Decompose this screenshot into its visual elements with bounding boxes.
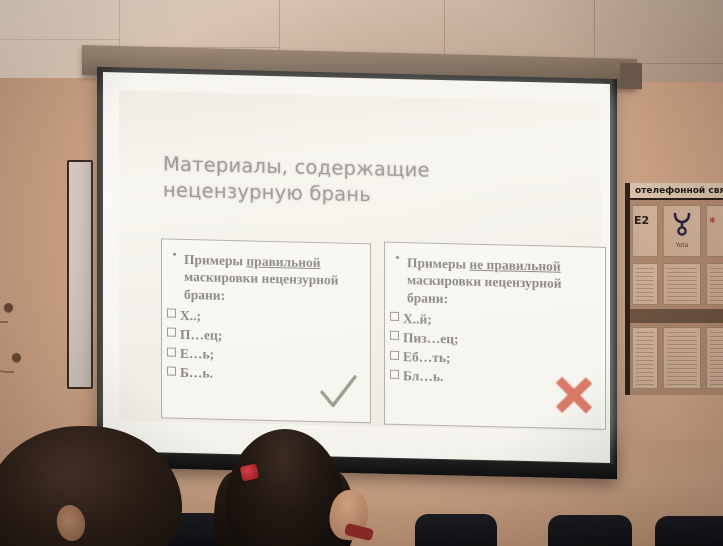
check-mark-icon — [318, 372, 358, 413]
chair — [655, 516, 723, 546]
checkbox-icon — [167, 366, 176, 375]
wall-hook-lower-tail — [0, 359, 14, 373]
list-item-label: Х..; — [180, 308, 201, 323]
checkbox-icon — [390, 331, 399, 340]
correct-examples-box: Примеры правильной маскировки нецензурно… — [161, 238, 371, 423]
incorrect-examples-box: Примеры не правильной маскировки нецензу… — [384, 242, 606, 430]
list-item-label: Е…ь; — [180, 346, 214, 362]
board-card — [706, 327, 723, 389]
bullet-dot-icon — [173, 253, 176, 256]
cross-mark-icon — [551, 372, 597, 419]
board-card-e2-label: Е2 — [633, 206, 657, 226]
heading-underlined: правильной — [246, 253, 320, 270]
checkbox-icon — [390, 312, 399, 321]
board-card-e2: Е2 — [632, 205, 658, 257]
correct-examples-heading: Примеры правильной маскировки нецензурно… — [162, 239, 370, 307]
slide-title: Материалы, содержащие нецензурную брань — [163, 151, 503, 212]
checkbox-icon — [390, 350, 399, 359]
list-item-label: П…ец; — [180, 327, 222, 343]
board-card-yota: Yota — [663, 205, 701, 257]
checkbox-icon — [167, 309, 176, 318]
projector-screen-housing-end — [620, 63, 642, 90]
classroom-photo: Материалы, содержащие нецензурную брань … — [0, 0, 723, 546]
projector-screen: Материалы, содержащие нецензурную брань … — [97, 67, 617, 479]
heading-suffix: маскировки нецензурной брани: — [184, 269, 339, 302]
board-card — [663, 327, 701, 389]
screen-side-band — [610, 79, 617, 479]
list-item-label: Бл…ь. — [403, 368, 443, 384]
bullet-dot-icon — [396, 256, 399, 259]
board-card-red-mark: ❋ — [707, 206, 723, 225]
chair — [415, 514, 497, 546]
incorrect-examples-heading: Примеры не правильной маскировки нецензу… — [385, 243, 605, 311]
yota-logo-label: Yota — [664, 242, 700, 249]
yota-logo-icon — [672, 212, 692, 236]
presentation-slide: Материалы, содержащие нецензурную брань … — [119, 90, 601, 431]
board-card — [706, 263, 723, 305]
board-divider — [630, 309, 723, 323]
board-card-red: ❋ — [706, 205, 723, 257]
wall-information-board: отелефонной свя Е2 Yota ❋ — [625, 183, 723, 395]
wall-hook-upper-tail — [0, 309, 8, 323]
projected-image-area: Материалы, содержащие нецензурную брань … — [119, 90, 601, 431]
list-item-label: Б…ь. — [180, 365, 213, 381]
checkbox-icon — [390, 370, 399, 379]
chair — [548, 515, 632, 546]
wall-board-strip-left — [67, 160, 93, 389]
heading-prefix: Примеры — [184, 252, 246, 268]
board-card — [632, 327, 658, 389]
board-card — [632, 263, 658, 305]
checkbox-icon — [167, 347, 176, 356]
board-header-text: отелефонной свя — [630, 183, 723, 200]
heading-underlined: не правильной — [469, 257, 560, 274]
list-item-label: Еб…ть; — [403, 349, 451, 365]
list-item-label: Х..й; — [403, 311, 432, 327]
heading-suffix: маскировки нецензурной брани: — [407, 272, 562, 305]
board-card — [663, 263, 701, 305]
heading-prefix: Примеры — [407, 255, 469, 271]
list-item-label: Пиз…ец; — [403, 330, 458, 346]
screen-surface: Материалы, содержащие нецензурную брань … — [103, 72, 610, 463]
checkbox-icon — [167, 328, 176, 337]
